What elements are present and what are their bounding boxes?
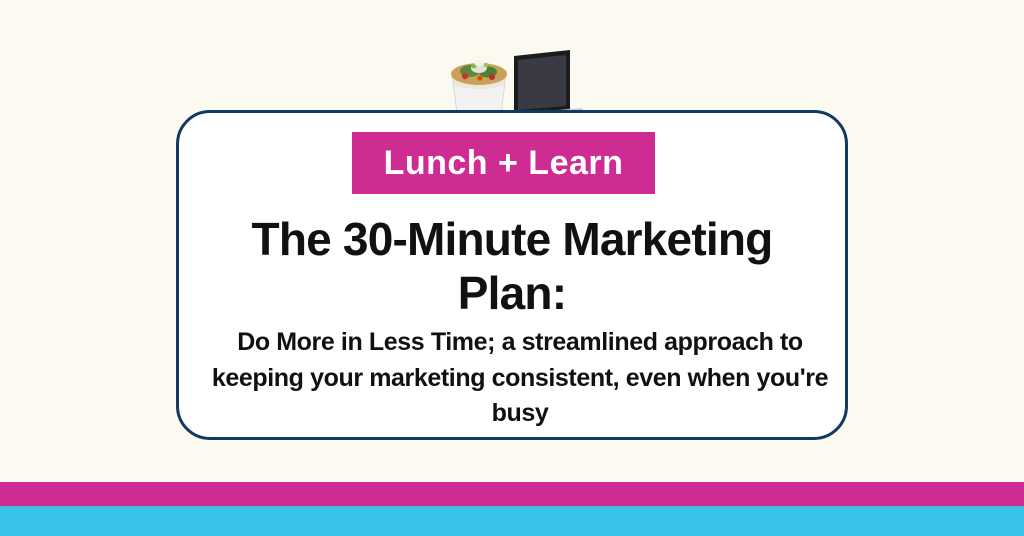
- badge-label: Lunch + Learn: [384, 146, 624, 180]
- page-title: The 30-Minute Marketing Plan:: [196, 212, 828, 321]
- footer-stripe-magenta: [0, 482, 1024, 506]
- lunch-learn-badge: Lunch + Learn: [352, 132, 655, 194]
- page-subtitle: Do More in Less Time; a streamlined appr…: [196, 325, 844, 432]
- footer-stripe-cyan: [0, 506, 1024, 536]
- slide-canvas: Lunch + Learn The 30-Minute Marketing Pl…: [0, 0, 1024, 536]
